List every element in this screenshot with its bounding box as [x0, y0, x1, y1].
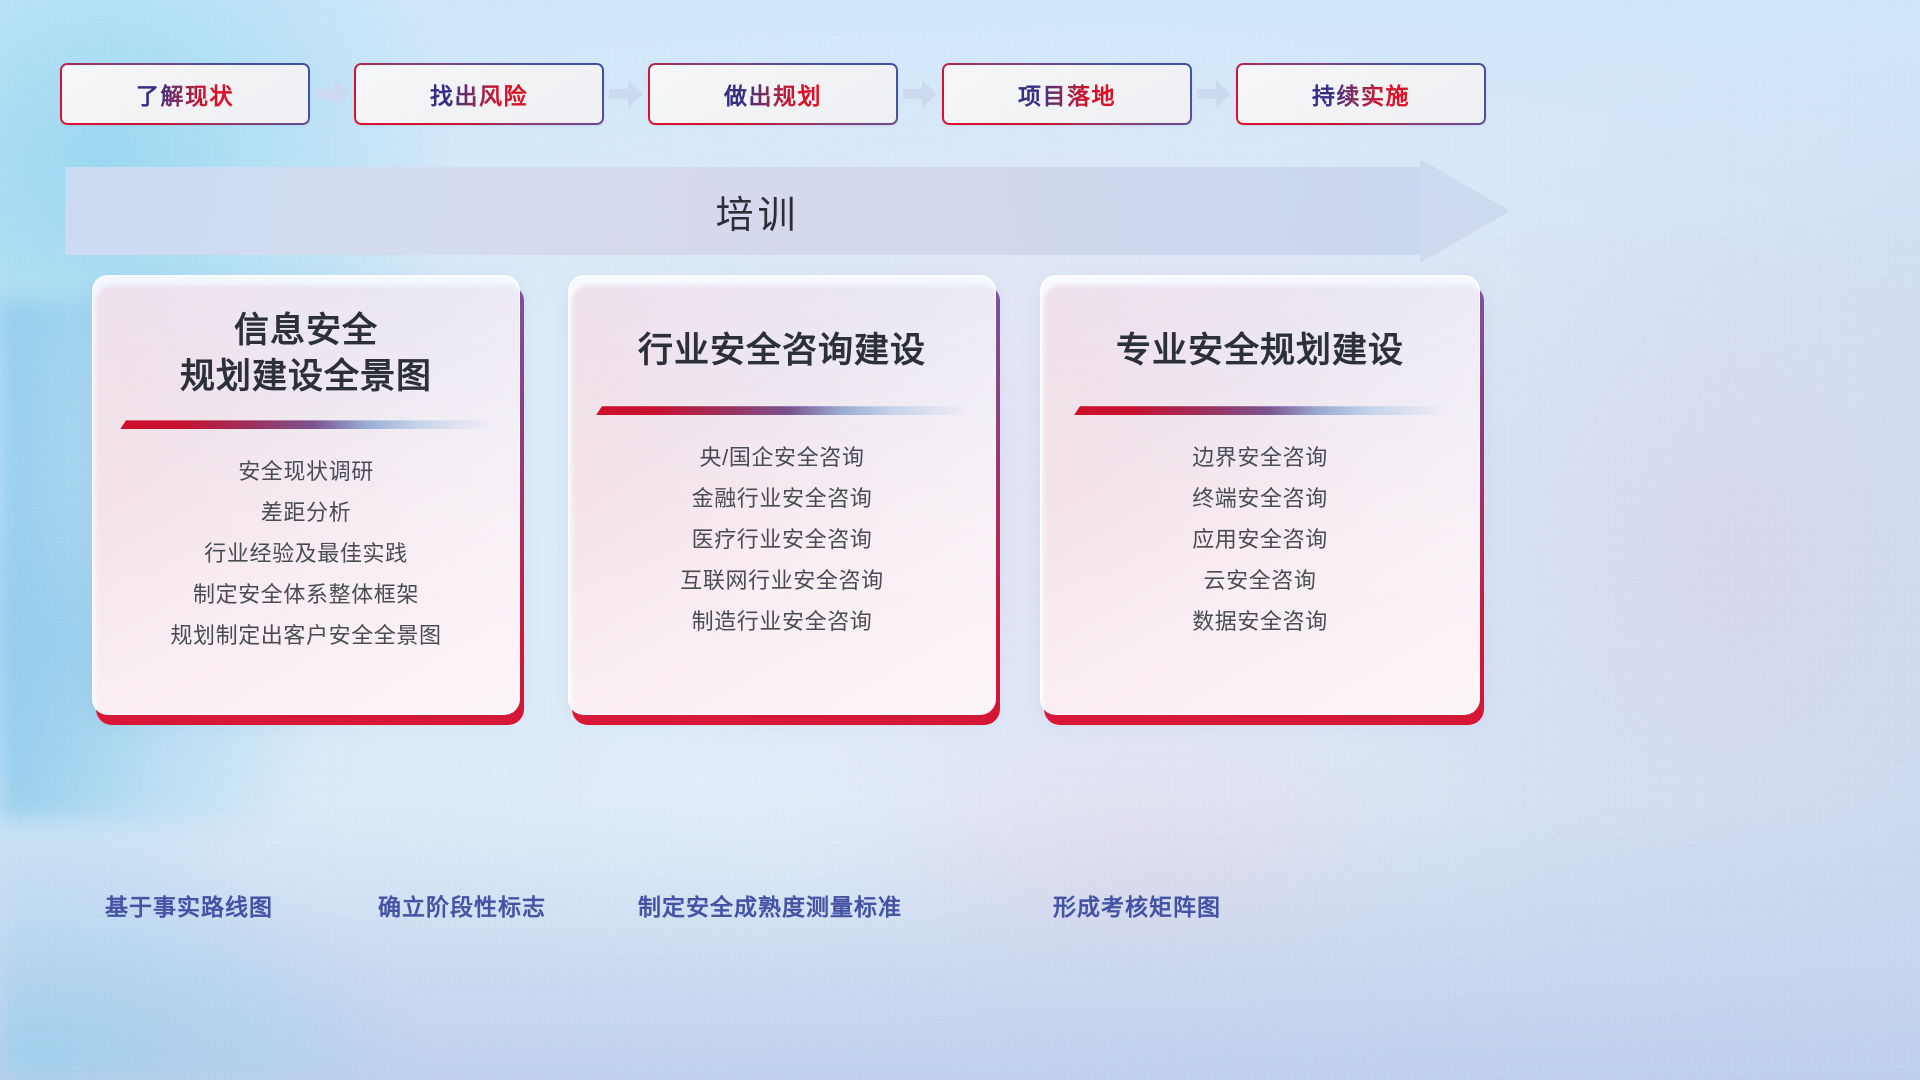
outcome-caption-4: 形成考核矩阵图: [1053, 888, 1221, 922]
outcome-caption-1: 基于事实路线图: [105, 888, 273, 922]
outcome-caption-2: 确立阶段性标志: [378, 888, 546, 922]
list-item: 云安全咨询: [1203, 564, 1316, 598]
slide-stage: 了解现状 找出风险 做出规划 项目落地: [0, 0, 1920, 1080]
process-step-3-label: 做出规划: [724, 77, 822, 111]
list-item: 安全现状调研: [238, 455, 374, 489]
card-1-body: 信息安全 规划建设全景图 安全现状调研 差距分析 行业经验及最佳实践 制定安全体…: [92, 275, 520, 715]
process-step-5[interactable]: 持续实施: [1236, 63, 1486, 125]
capability-card-row: 信息安全 规划建设全景图 安全现状调研 差距分析 行业经验及最佳实践 制定安全体…: [92, 275, 1480, 715]
list-item: 制定安全体系整体框架: [193, 578, 419, 612]
arrow-right-icon-2: [604, 63, 648, 125]
list-item: 制造行业安全咨询: [692, 605, 873, 639]
outcome-caption-3: 制定安全成熟度测量标准: [638, 888, 902, 922]
list-item: 行业经验及最佳实践: [204, 537, 407, 571]
card-1-title: 信息安全 规划建设全景图: [180, 308, 432, 400]
card-2-title: 行业安全咨询建设: [638, 328, 926, 374]
process-step-2-label: 找出风险: [430, 77, 528, 111]
process-step-5-label: 持续实施: [1312, 77, 1410, 111]
card-2-divider: [596, 406, 968, 415]
card-2-body: 行业安全咨询建设 央/国企安全咨询 金融行业安全咨询 医疗行业安全咨询 互联网行…: [568, 275, 996, 715]
outcome-caption-row: 基于事实路线图 确立阶段性标志 制定安全成熟度测量标准 形成考核矩阵图: [0, 888, 1920, 938]
arrow-right-icon-4: [1192, 63, 1236, 125]
arrow-right-icon-3: [898, 63, 942, 125]
card-3-body: 专业安全规划建设 边界安全咨询 终端安全咨询 应用安全咨询 云安全咨询 数据安全…: [1040, 275, 1480, 715]
list-item: 边界安全咨询: [1192, 441, 1328, 475]
process-step-4[interactable]: 项目落地: [942, 63, 1192, 125]
process-step-1-label: 了解现状: [136, 77, 234, 111]
capability-card-2[interactable]: 行业安全咨询建设 央/国企安全咨询 金融行业安全咨询 医疗行业安全咨询 互联网行…: [568, 275, 996, 715]
card-1-divider: [120, 420, 492, 429]
process-step-3[interactable]: 做出规划: [648, 63, 898, 125]
banner-title: 培训: [65, 167, 1510, 255]
list-item: 央/国企安全咨询: [700, 441, 865, 475]
process-step-row: 了解现状 找出风险 做出规划 项目落地: [60, 63, 1485, 125]
training-banner: 培训: [65, 167, 1510, 255]
card-3-title: 专业安全规划建设: [1116, 328, 1404, 374]
card-3-list: 边界安全咨询 终端安全咨询 应用安全咨询 云安全咨询 数据安全咨询: [1192, 441, 1328, 639]
card-3-divider: [1074, 406, 1446, 415]
list-item: 终端安全咨询: [1192, 482, 1328, 516]
process-step-2[interactable]: 找出风险: [354, 63, 604, 125]
card-2-list: 央/国企安全咨询 金融行业安全咨询 医疗行业安全咨询 互联网行业安全咨询 制造行…: [680, 441, 883, 639]
list-item: 医疗行业安全咨询: [692, 523, 873, 557]
card-1-list: 安全现状调研 差距分析 行业经验及最佳实践 制定安全体系整体框架 规划制定出客户…: [170, 455, 441, 653]
list-item: 规划制定出客户安全全景图: [170, 619, 441, 653]
list-item: 数据安全咨询: [1192, 605, 1328, 639]
capability-card-1[interactable]: 信息安全 规划建设全景图 安全现状调研 差距分析 行业经验及最佳实践 制定安全体…: [92, 275, 520, 715]
capability-card-3[interactable]: 专业安全规划建设 边界安全咨询 终端安全咨询 应用安全咨询 云安全咨询 数据安全…: [1040, 275, 1480, 715]
list-item: 互联网行业安全咨询: [680, 564, 883, 598]
process-step-1[interactable]: 了解现状: [60, 63, 310, 125]
list-item: 差距分析: [261, 496, 351, 530]
list-item: 应用安全咨询: [1192, 523, 1328, 557]
process-step-4-label: 项目落地: [1018, 77, 1116, 111]
arrow-right-icon-1: [310, 63, 354, 125]
list-item: 金融行业安全咨询: [692, 482, 873, 516]
